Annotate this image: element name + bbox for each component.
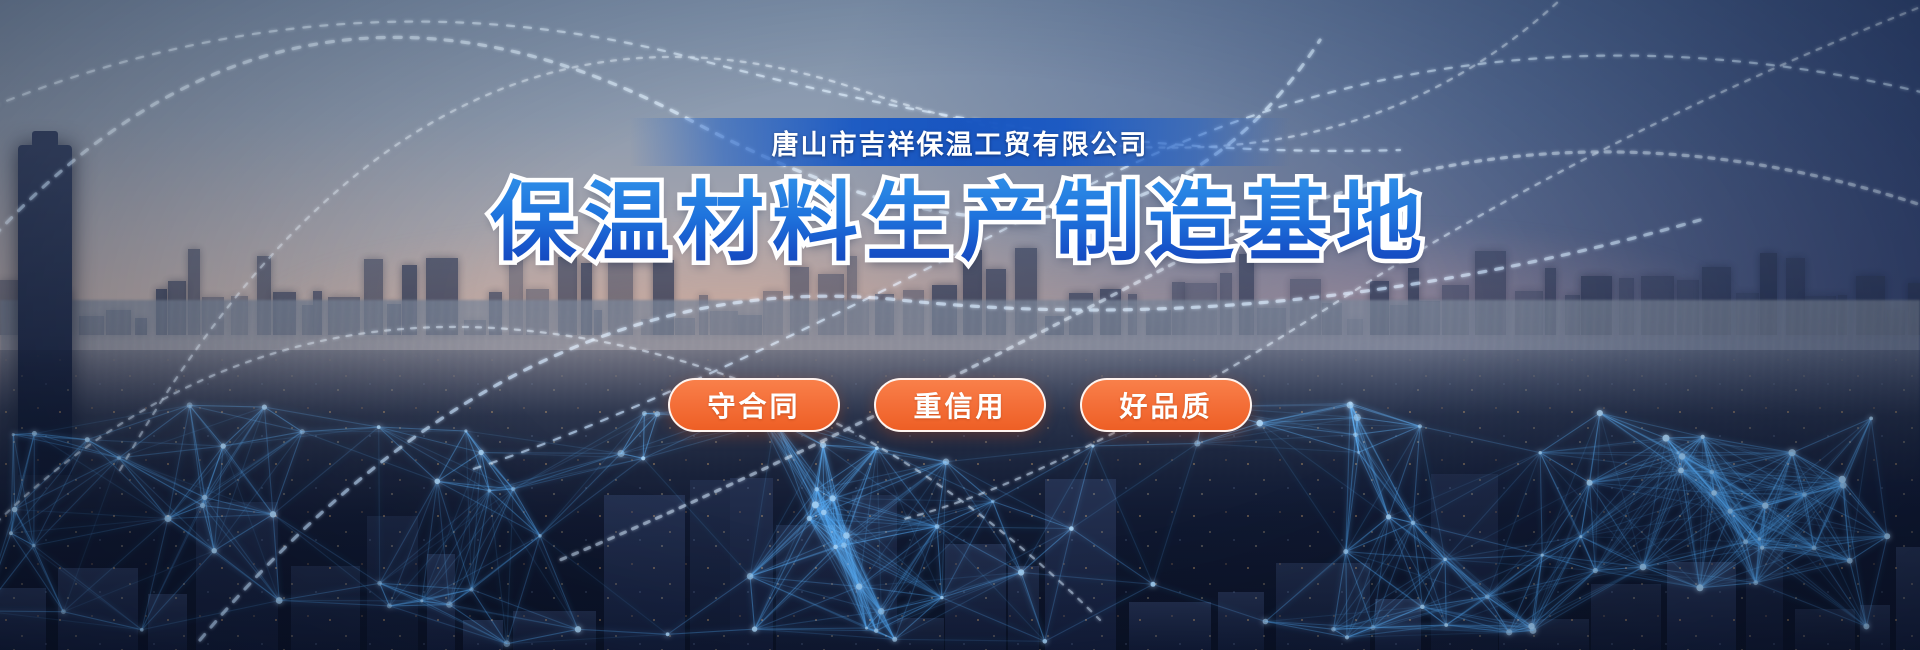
company-name: 唐山市吉祥保温工贸有限公司 <box>772 123 1149 162</box>
page-title: 保温材料生产制造基地 <box>490 175 1430 271</box>
badge-zhong-xin-yong[interactable]: 重信用 <box>874 378 1046 432</box>
headline-wrapper: 保温材料生产制造基地 保温材料生产制造基地 <box>490 175 1430 271</box>
hero-banner: 唐山市吉祥保温工贸有限公司 保温材料生产制造基地 保温材料生产制造基地 守合同 … <box>0 0 1920 650</box>
badge-label: 好品质 <box>1119 385 1212 425</box>
company-name-ribbon: 唐山市吉祥保温工贸有限公司 <box>630 118 1290 166</box>
badge-hao-pin-zhi[interactable]: 好品质 <box>1080 378 1252 432</box>
badge-list: 守合同 重信用 好品质 <box>668 378 1252 432</box>
badge-label: 重信用 <box>913 385 1006 425</box>
badge-shou-he-tong[interactable]: 守合同 <box>668 378 840 432</box>
badge-label: 守合同 <box>707 385 800 425</box>
